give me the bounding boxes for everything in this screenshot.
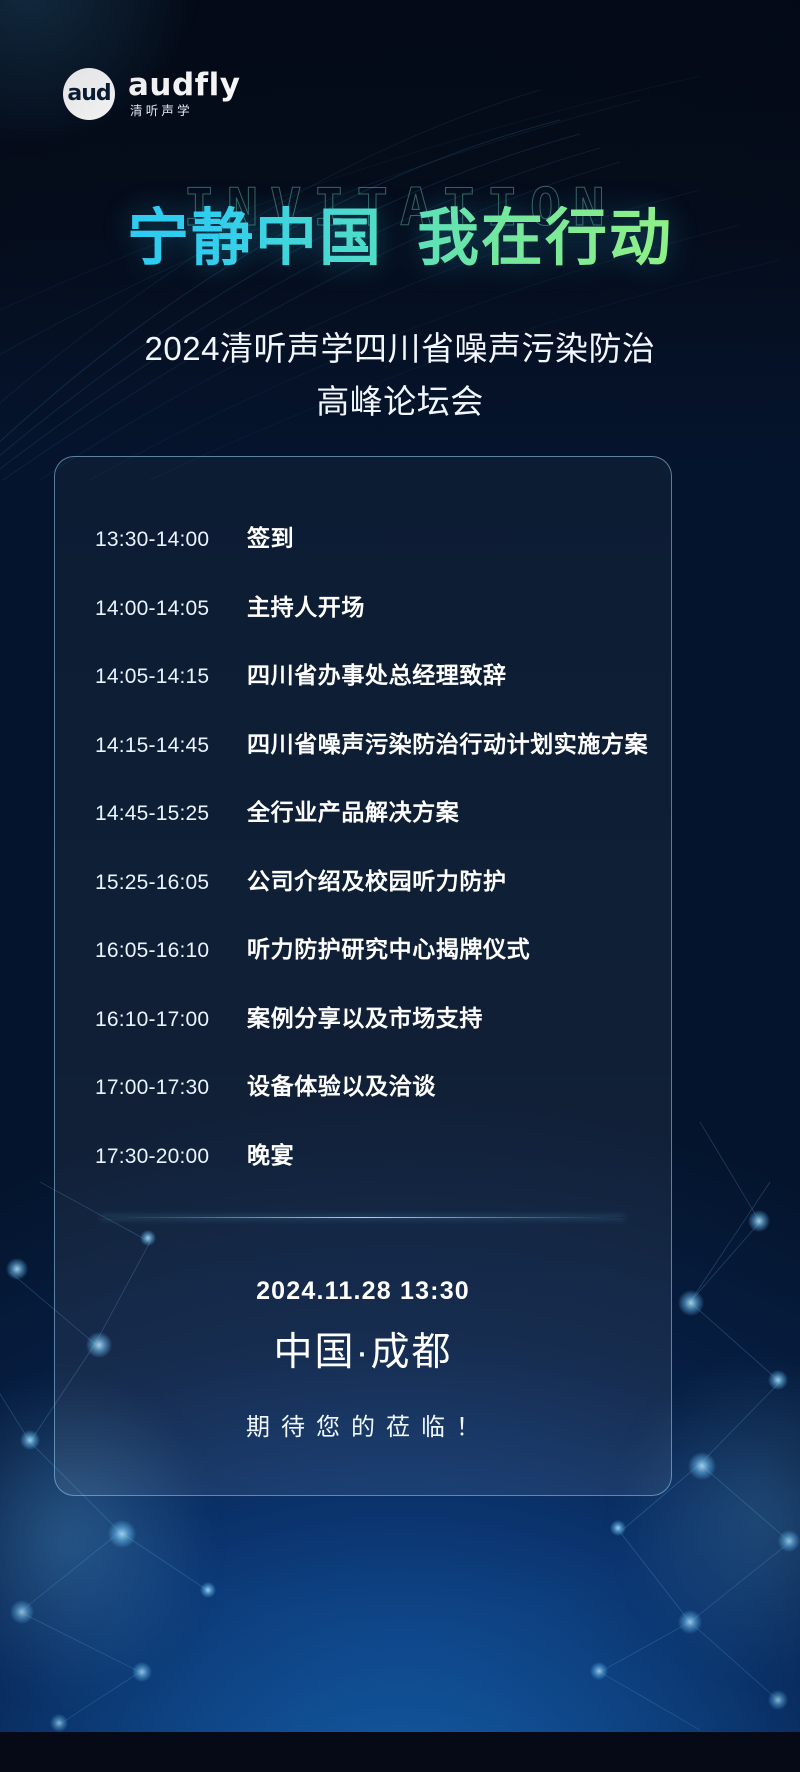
agenda-card: 13:30-14:00 签到 14:00-14:05 主持人开场 14:05-1…	[54, 456, 672, 1496]
logo-mark-icon: aud	[63, 68, 115, 120]
schedule-title: 案例分享以及市场支持	[247, 999, 483, 1033]
logo-mark-text: aud	[67, 83, 110, 105]
schedule-title: 四川省噪声污染防治行动计划实施方案	[247, 725, 648, 759]
list-item: 13:30-14:00 签到	[95, 519, 645, 588]
schedule-time: 16:05-16:10	[95, 939, 247, 963]
poster-background: aud audfly 清听声学 INVITATION 宁静中国我在行动 2024…	[0, 0, 800, 1732]
schedule-title: 四川省办事处总经理致辞	[247, 656, 507, 690]
schedule-time: 17:00-17:30	[95, 1076, 247, 1100]
schedule-title: 设备体验以及洽谈	[247, 1067, 436, 1101]
page-title-right: 我在行动	[417, 204, 673, 273]
page-subtitle-line-2: 高峰论坛会	[0, 375, 800, 428]
schedule-title: 全行业产品解决方案	[247, 793, 459, 827]
logo-chinese-name: 清听声学	[130, 105, 241, 118]
schedule-title: 晚宴	[247, 1136, 294, 1170]
schedule-time: 16:10-17:00	[95, 1008, 247, 1032]
list-item: 17:00-17:30 设备体验以及洽谈	[95, 1067, 645, 1136]
schedule-time: 13:30-14:00	[95, 528, 247, 552]
page-subtitle: 2024清听声学四川省噪声污染防治 高峰论坛会	[0, 322, 800, 429]
list-item: 14:15-14:45 四川省噪声污染防治行动计划实施方案	[95, 725, 645, 794]
event-location: 中国·成都	[55, 1321, 671, 1377]
list-item: 17:30-20:00 晚宴	[95, 1136, 645, 1205]
schedule-time: 14:45-15:25	[95, 802, 247, 826]
logo-wordmark: audfly	[128, 70, 241, 101]
schedule-time: 14:00-14:05	[95, 597, 247, 621]
schedule-list: 13:30-14:00 签到 14:00-14:05 主持人开场 14:05-1…	[95, 519, 645, 1204]
list-item: 15:25-16:05 公司介绍及校园听力防护	[95, 862, 645, 931]
list-item: 14:05-14:15 四川省办事处总经理致辞	[95, 656, 645, 725]
list-item: 16:10-17:00 案例分享以及市场支持	[95, 999, 645, 1068]
event-datetime: 2024.11.28 13:30	[55, 1277, 671, 1306]
brand-logo[interactable]: aud audfly 清听声学	[63, 68, 241, 120]
list-item: 16:05-16:10 听力防护研究中心揭牌仪式	[95, 930, 645, 999]
page-subtitle-line-1: 2024清听声学四川省噪声污染防治	[0, 322, 800, 375]
schedule-title: 签到	[247, 519, 294, 553]
list-item: 14:45-15:25 全行业产品解决方案	[95, 793, 645, 862]
schedule-title: 听力防护研究中心揭牌仪式	[247, 930, 530, 964]
schedule-time: 14:05-14:15	[95, 665, 247, 689]
section-divider	[101, 1217, 625, 1218]
welcome-message: 期待您的莅临！	[55, 1407, 671, 1442]
schedule-time: 17:30-20:00	[95, 1145, 247, 1169]
page-title: 宁静中国我在行动	[0, 206, 800, 271]
schedule-title: 主持人开场	[247, 588, 365, 622]
schedule-title: 公司介绍及校园听力防护	[247, 862, 507, 896]
schedule-time: 14:15-14:45	[95, 734, 247, 758]
schedule-time: 15:25-16:05	[95, 871, 247, 895]
list-item: 14:00-14:05 主持人开场	[95, 588, 645, 657]
page-title-left: 宁静中国	[127, 204, 383, 273]
